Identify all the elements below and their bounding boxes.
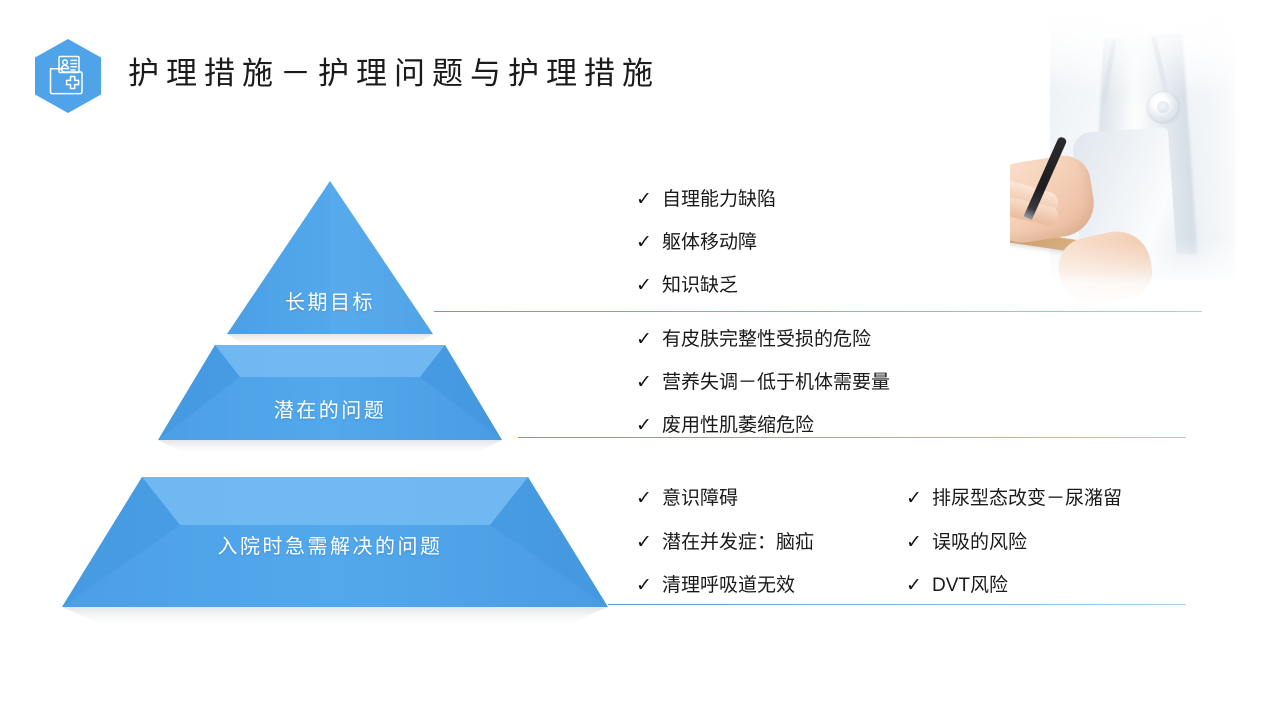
bullet-text: 营养失调－低于机体需要量	[662, 372, 890, 393]
finger-index	[1010, 178, 1061, 216]
slide-canvas: 护理措施－护理问题与护理措施	[0, 0, 1280, 720]
check-icon: ✓	[636, 373, 662, 392]
bullet-text: 废用性肌萎缩危险	[662, 415, 814, 436]
check-icon: ✓	[636, 233, 662, 252]
stethoscope-tube-right	[1151, 36, 1170, 98]
pen	[1023, 136, 1067, 220]
photo-right-fade	[1190, 0, 1280, 310]
coat-body	[1050, 0, 1235, 280]
pyramid-tier-3-label: 入院时急需解决的问题	[180, 530, 480, 559]
bullet-item: ✓知识缺乏	[636, 276, 738, 295]
clipboard-paper	[1010, 188, 1093, 242]
coat-sleeve	[1072, 127, 1178, 283]
tier2-shadow	[158, 440, 502, 456]
bullet-text: 知识缺乏	[662, 275, 738, 296]
bullet-text: 躯体移动障	[662, 232, 757, 253]
finger-middle	[1010, 196, 1060, 228]
bullet-item: ✓有皮肤完整性受损的危险	[636, 330, 871, 349]
check-icon: ✓	[636, 276, 662, 295]
bullet-item: ✓DVT风险	[906, 576, 1008, 595]
photo-top-fade	[1010, 0, 1280, 96]
check-icon: ✓	[636, 576, 662, 595]
tier3-shadow	[62, 607, 608, 628]
photo-left-fade	[1010, 130, 1015, 310]
check-icon: ✓	[906, 533, 932, 552]
bullet-text: 潜在并发症：脑疝	[662, 532, 814, 553]
coat-button	[1123, 185, 1133, 195]
bullet-item: ✓排尿型态改变－尿潴留	[906, 489, 1122, 508]
stethoscope-bell	[1148, 92, 1178, 122]
bullet-text: 自理能力缺陷	[662, 189, 776, 210]
pyramid-diagram: 长期目标 潜在的问题 入院时急需解决的问题	[0, 0, 640, 650]
divider-tier-3	[608, 604, 1186, 605]
bullet-text: 排尿型态改变－尿潴留	[932, 488, 1122, 509]
bullet-item: ✓误吸的风险	[906, 533, 1027, 552]
check-icon: ✓	[636, 416, 662, 435]
check-icon: ✓	[906, 576, 932, 595]
divider-tier-1	[434, 311, 1202, 312]
writing-hand	[1010, 152, 1099, 248]
bullet-item: ✓营养失调－低于机体需要量	[636, 373, 890, 392]
bullet-item: ✓自理能力缺陷	[636, 190, 776, 209]
photo-bottom-fade	[1010, 240, 1280, 310]
bullet-item: ✓潜在并发症：脑疝	[636, 533, 814, 552]
coat-lapel-left	[1092, 38, 1137, 253]
divider-tier-2	[518, 437, 1186, 438]
bullet-text: DVT风险	[932, 575, 1008, 596]
pyramid-tier-2	[158, 345, 502, 440]
supporting-hand	[1053, 225, 1157, 310]
doctor-writing-on-clipboard-photo	[1010, 0, 1280, 310]
stethoscope-tube-left	[1101, 40, 1117, 108]
bullet-text: 清理呼吸道无效	[662, 575, 795, 596]
clipboard	[1010, 195, 1096, 255]
coat-lapel-right	[1130, 34, 1197, 254]
check-icon: ✓	[636, 533, 662, 552]
bullet-text: 有皮肤完整性受损的危险	[662, 329, 871, 350]
pyramid-tier-2-label: 潜在的问题	[228, 394, 432, 423]
check-icon: ✓	[636, 489, 662, 508]
check-icon: ✓	[636, 330, 662, 349]
check-icon: ✓	[636, 190, 662, 209]
bullet-item: ✓废用性肌萎缩危险	[636, 416, 814, 435]
bullet-item: ✓躯体移动障	[636, 233, 757, 252]
bullet-item: ✓意识障碍	[636, 489, 738, 508]
pyramid-tier-1-label: 长期目标	[228, 286, 432, 315]
hand-and-clipboard-group	[1010, 130, 1165, 310]
bullet-text: 意识障碍	[662, 488, 738, 509]
bullet-text: 误吸的风险	[932, 532, 1027, 553]
check-icon: ✓	[906, 489, 932, 508]
bullet-item: ✓清理呼吸道无效	[636, 576, 795, 595]
